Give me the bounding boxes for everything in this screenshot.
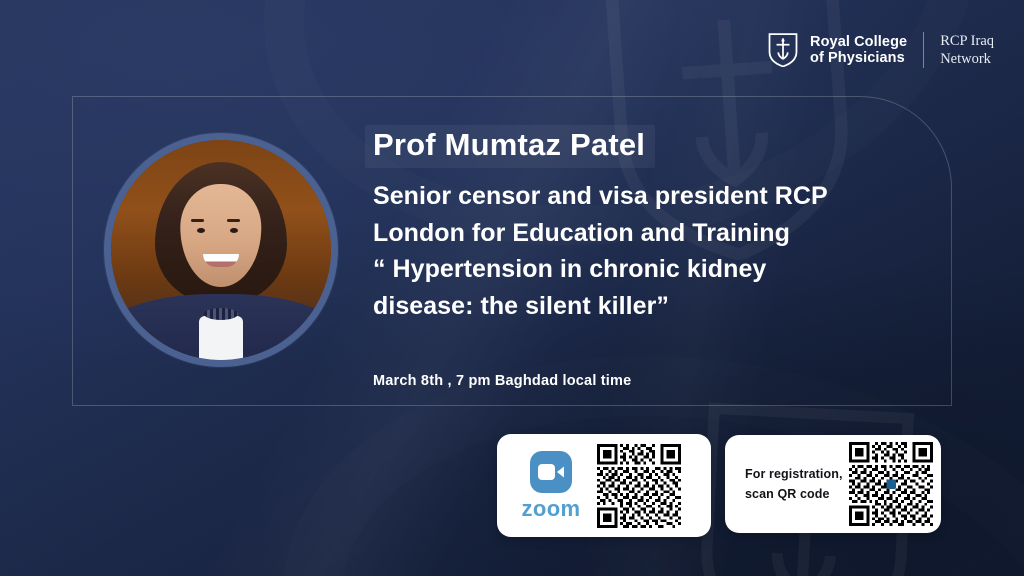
zoom-join-card[interactable]: zoom [497, 434, 711, 537]
logo-divider [923, 32, 924, 68]
rcp-brand-line2: of Physicians [810, 50, 905, 66]
speaker-name-highlight: Prof Mumtaz Patel [365, 125, 655, 168]
subtitle-line-2: London for Education and Training [373, 215, 933, 252]
photo-eye-left [197, 228, 205, 233]
network-line2: Network [940, 51, 991, 67]
photo-brow-right [227, 219, 240, 222]
rcp-logo-lockup: Royal College of Physicians RCP Iraq Net… [768, 32, 994, 69]
rcp-brand-text: Royal College of Physicians [810, 34, 907, 66]
speaker-photo [111, 140, 331, 360]
rcp-brand-line1: Royal College [810, 34, 907, 50]
registration-card[interactable]: For registration, scan QR code [725, 435, 941, 533]
network-text: RCP Iraq Network [940, 32, 994, 69]
registration-text: For registration, scan QR code [737, 464, 843, 505]
subtitle-line-3: “ Hypertension in chronic kidney [373, 251, 933, 288]
registration-qr-code-icon[interactable] [849, 442, 933, 526]
speaker-name: Prof Mumtaz Patel [373, 129, 645, 162]
zoom-camera-icon [530, 451, 572, 493]
speaker-portrait [104, 133, 338, 367]
zoom-brand: zoom [509, 451, 593, 520]
registration-line-1: For registration, [745, 464, 843, 484]
zoom-qr-code-icon[interactable] [597, 444, 681, 528]
event-poster: Royal College of Physicians RCP Iraq Net… [0, 0, 1024, 576]
registration-line-2: scan QR code [745, 484, 843, 504]
photo-necklace [204, 308, 238, 320]
network-line1: RCP Iraq [940, 33, 994, 49]
zoom-wordmark: zoom [521, 498, 580, 520]
photo-blouse [199, 316, 243, 364]
photo-brow-left [191, 219, 204, 222]
speaker-subtitle: Senior censor and visa president RCP Lon… [373, 178, 933, 324]
subtitle-line-1: Senior censor and visa president RCP [373, 178, 933, 215]
rcp-crest-icon [768, 33, 798, 67]
photo-eye-right [230, 228, 238, 233]
event-datetime: March 8th , 7 pm Baghdad local time [373, 373, 631, 389]
subtitle-line-4: disease: the silent killer” [373, 288, 933, 325]
